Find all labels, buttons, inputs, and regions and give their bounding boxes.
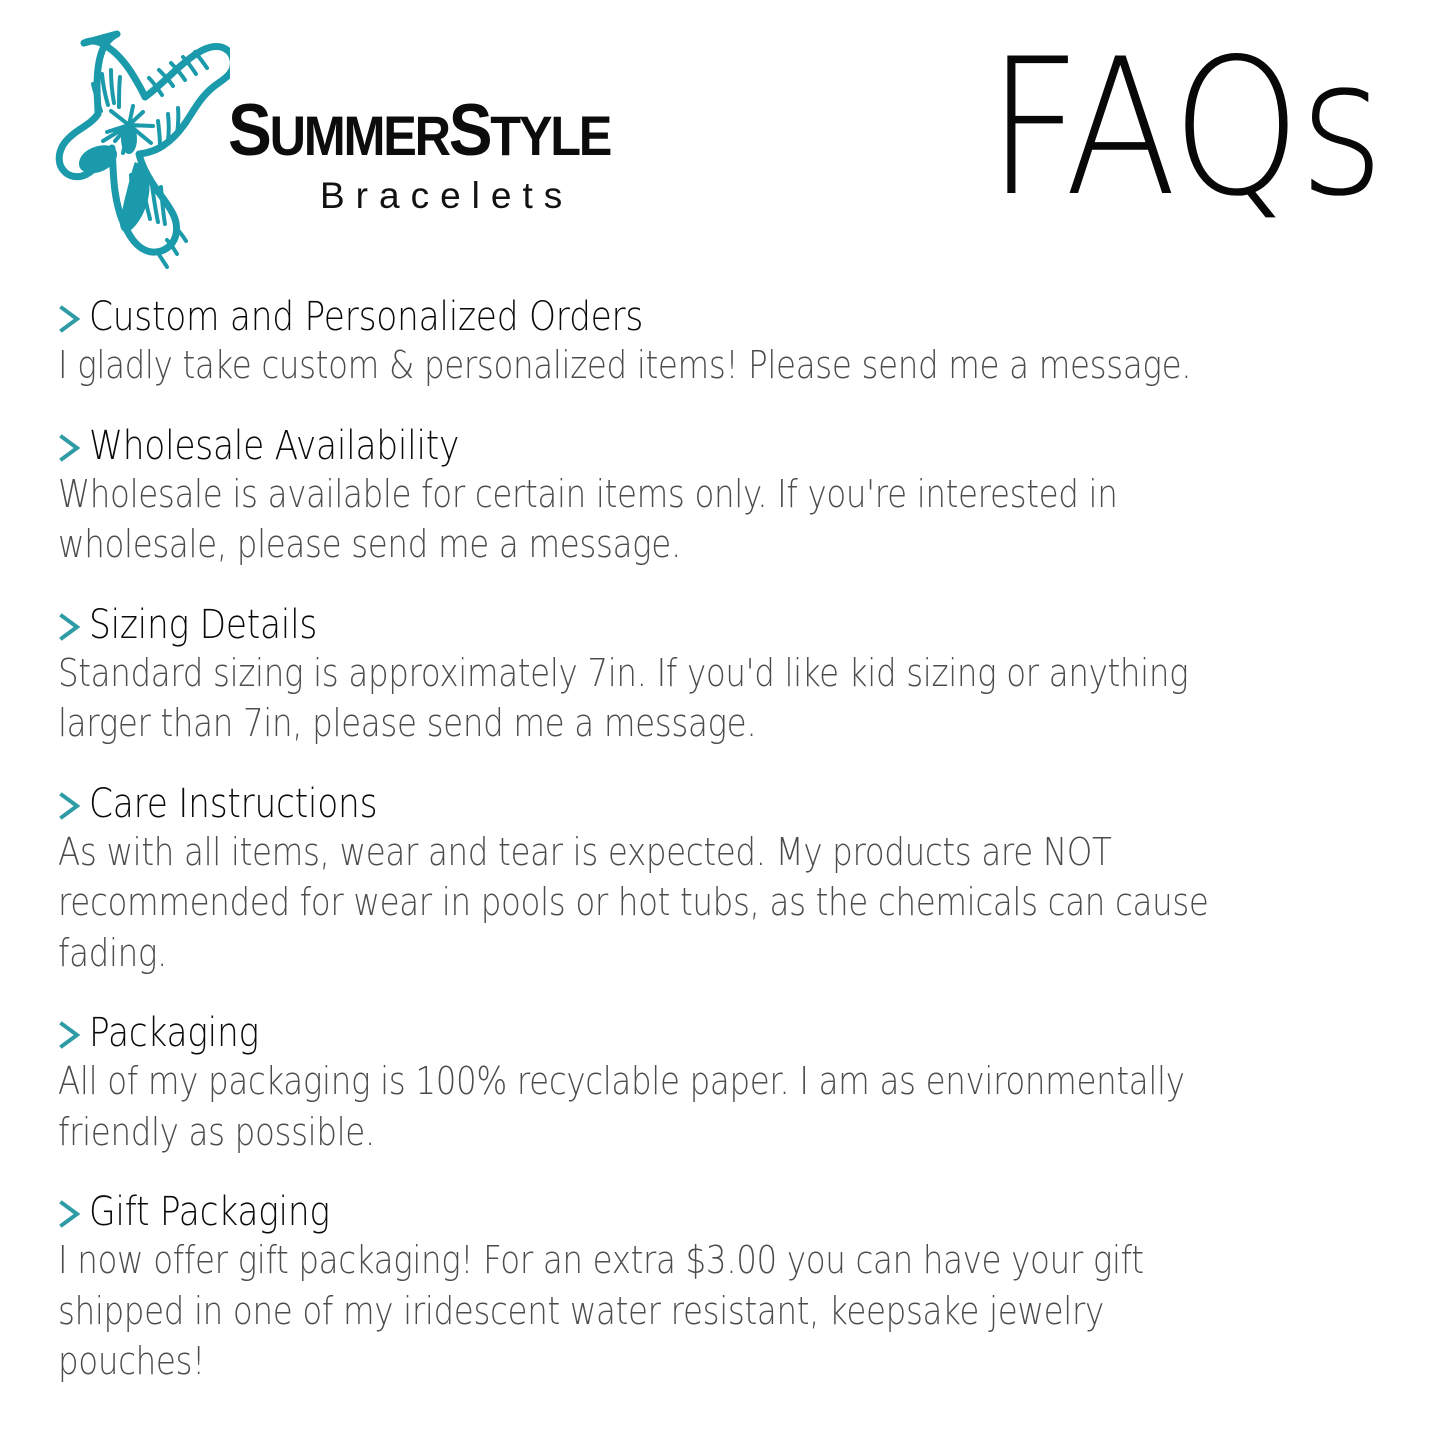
chevron-right-icon bbox=[58, 1199, 82, 1229]
faq-item-sizing: Sizing Details Standard sizing is approx… bbox=[58, 604, 1258, 749]
faq-item-wholesale: Wholesale Availability Wholesale is avai… bbox=[58, 425, 1258, 570]
faq-body-text: I gladly take custom & personalized item… bbox=[58, 340, 1259, 391]
faq-item-packaging: Packaging All of my packaging is 100% re… bbox=[58, 1012, 1258, 1157]
wordmark-s1: S bbox=[228, 90, 270, 171]
faq-heading-label: Care Instructions bbox=[89, 783, 377, 825]
faq-heading[interactable]: Care Instructions bbox=[58, 783, 1258, 825]
starfish-icon bbox=[55, 22, 230, 287]
wordmark-s2: S bbox=[449, 90, 491, 171]
wordmark-tyle: TYLE bbox=[490, 104, 610, 167]
wordmark-ummer: UMMER bbox=[270, 104, 449, 167]
faq-item-care: Care Instructions As with all items, wea… bbox=[58, 783, 1258, 979]
faq-body-text: I now offer gift packaging! For an extra… bbox=[58, 1235, 1259, 1387]
chevron-right-icon bbox=[58, 433, 82, 463]
chevron-right-icon bbox=[58, 791, 82, 821]
brand-lockup: SUMMERSTYLE Bracelets bbox=[55, 22, 653, 287]
brand-text: SUMMERSTYLE Bracelets bbox=[228, 22, 653, 217]
chevron-right-icon bbox=[58, 1020, 82, 1050]
faq-heading[interactable]: Custom and Personalized Orders bbox=[58, 296, 1258, 338]
chevron-right-icon bbox=[58, 612, 82, 642]
faq-heading-label: Wholesale Availability bbox=[89, 425, 459, 467]
faq-item-custom-orders: Custom and Personalized Orders I gladly … bbox=[58, 296, 1258, 391]
faq-list: Custom and Personalized Orders I gladly … bbox=[58, 296, 1258, 1387]
faq-item-gift-packaging: Gift Packaging I now offer gift packagin… bbox=[58, 1191, 1258, 1387]
faq-heading[interactable]: Packaging bbox=[58, 1012, 1258, 1054]
brand-wordmark: SUMMERSTYLE bbox=[228, 100, 610, 163]
page-header: SUMMERSTYLE Bracelets FAQs bbox=[0, 0, 1445, 290]
faq-body-text: As with all items, wear and tear is expe… bbox=[58, 827, 1259, 979]
faq-body-text: Wholesale is available for certain items… bbox=[58, 469, 1259, 570]
chevron-right-icon bbox=[58, 304, 82, 334]
brand-subtitle: Bracelets bbox=[320, 175, 653, 217]
faq-heading-label: Gift Packaging bbox=[89, 1191, 330, 1233]
faq-heading-label: Packaging bbox=[89, 1012, 259, 1054]
faq-heading[interactable]: Sizing Details bbox=[58, 604, 1258, 646]
faq-heading[interactable]: Wholesale Availability bbox=[58, 425, 1258, 467]
faq-heading-label: Custom and Personalized Orders bbox=[89, 296, 643, 338]
faq-body-text: All of my packaging is 100% recyclable p… bbox=[58, 1056, 1259, 1157]
page-title: FAQs bbox=[988, 34, 1383, 223]
faq-body-text: Standard sizing is approximately 7in. If… bbox=[58, 648, 1259, 749]
faq-heading[interactable]: Gift Packaging bbox=[58, 1191, 1258, 1233]
faq-page: SUMMERSTYLE Bracelets FAQs Custom and Pe… bbox=[0, 0, 1445, 1445]
faq-heading-label: Sizing Details bbox=[89, 604, 317, 646]
